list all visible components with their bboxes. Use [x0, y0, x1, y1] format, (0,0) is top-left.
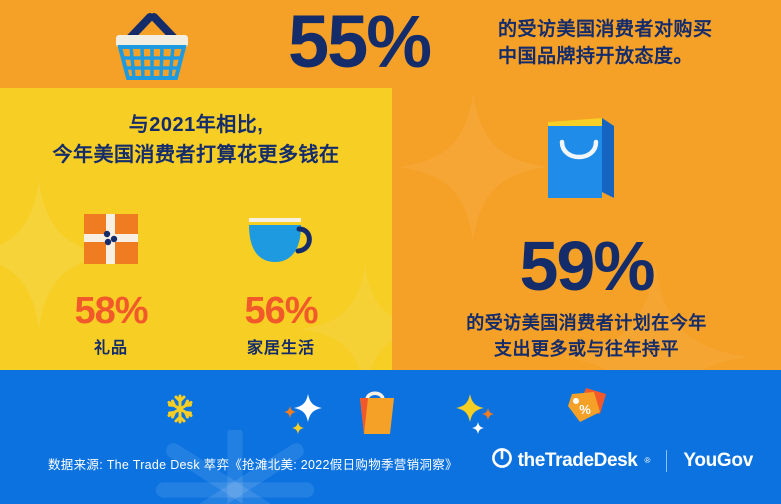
metric-home-living-label: 家居生活 — [196, 334, 366, 358]
trade-desk-wordmark: theTradeDesk — [518, 450, 638, 472]
yellow-panel-heading: 与2021年相比, 今年美国消费者打算花更多钱在 — [0, 110, 392, 170]
metric-gift-value: 58% — [26, 290, 196, 332]
yougov-logo[interactable]: YouGov — [683, 450, 753, 472]
top-stat-value: 55% — [288, 0, 430, 86]
sparkle-icon — [450, 392, 496, 439]
yellow-panel-heading-line2: 今年美国消费者打算花更多钱在 — [0, 140, 392, 170]
right-stat-description-line1: 的受访美国消费者计划在今年 — [392, 310, 781, 336]
sparkle-icon — [282, 392, 328, 439]
right-stat-description: 的受访美国消费者计划在今年 支出更多或与往年持平 — [392, 310, 781, 362]
gift-box-icon — [26, 206, 196, 268]
shopping-bag-icon — [540, 112, 620, 204]
svg-text:%: % — [579, 402, 591, 417]
shopping-basket-icon — [104, 8, 200, 80]
top-statistic-row: 55% 的受访美国消费者对购买 中国品牌持开放态度。 — [0, 0, 781, 88]
trade-desk-trademark: ® — [644, 456, 650, 465]
coffee-cup-icon — [196, 206, 366, 268]
metric-gift-label: 礼品 — [26, 334, 196, 358]
yougov-wordmark: YouGov — [683, 450, 753, 471]
power-button-icon — [492, 448, 512, 473]
metric-home-living-value: 56% — [196, 290, 366, 332]
infographic-canvas: 55% 的受访美国消费者对购买 中国品牌持开放态度。 与2021年相比, 今年美… — [0, 0, 781, 504]
footer-logos: theTradeDesk ® YouGov — [492, 448, 753, 473]
logo-divider — [666, 450, 667, 472]
shopping-bag-icon — [352, 386, 398, 441]
footer-bar: % 数据来源: The Trade Desk 萃弈《抢滩北美: 2022假日购物… — [0, 370, 781, 504]
top-stat-description-line2: 中国品牌持开放态度。 — [498, 43, 768, 70]
metric-home-living: 56% 家居生活 — [196, 206, 366, 358]
snowflake-icon — [164, 393, 196, 430]
spending-increase-panel: 与2021年相比, 今年美国消费者打算花更多钱在 58% 礼品 — [0, 88, 392, 370]
watermark-sparkle-icon — [398, 92, 548, 242]
yellow-panel-heading-line1: 与2021年相比, — [0, 110, 392, 140]
trade-desk-logo[interactable]: theTradeDesk ® — [492, 448, 651, 473]
price-tag-icon: % — [556, 382, 608, 435]
right-stat-value: 59% — [392, 228, 781, 304]
top-stat-description: 的受访美国消费者对购买 中国品牌持开放态度。 — [498, 16, 768, 70]
right-stat-description-line2: 支出更多或与往年持平 — [392, 336, 781, 362]
metric-gift: 58% 礼品 — [26, 206, 196, 358]
footer-source-text: 数据来源: The Trade Desk 萃弈《抢滩北美: 2022假日购物季营… — [48, 454, 458, 473]
top-stat-description-line1: 的受访美国消费者对购买 — [498, 16, 768, 43]
